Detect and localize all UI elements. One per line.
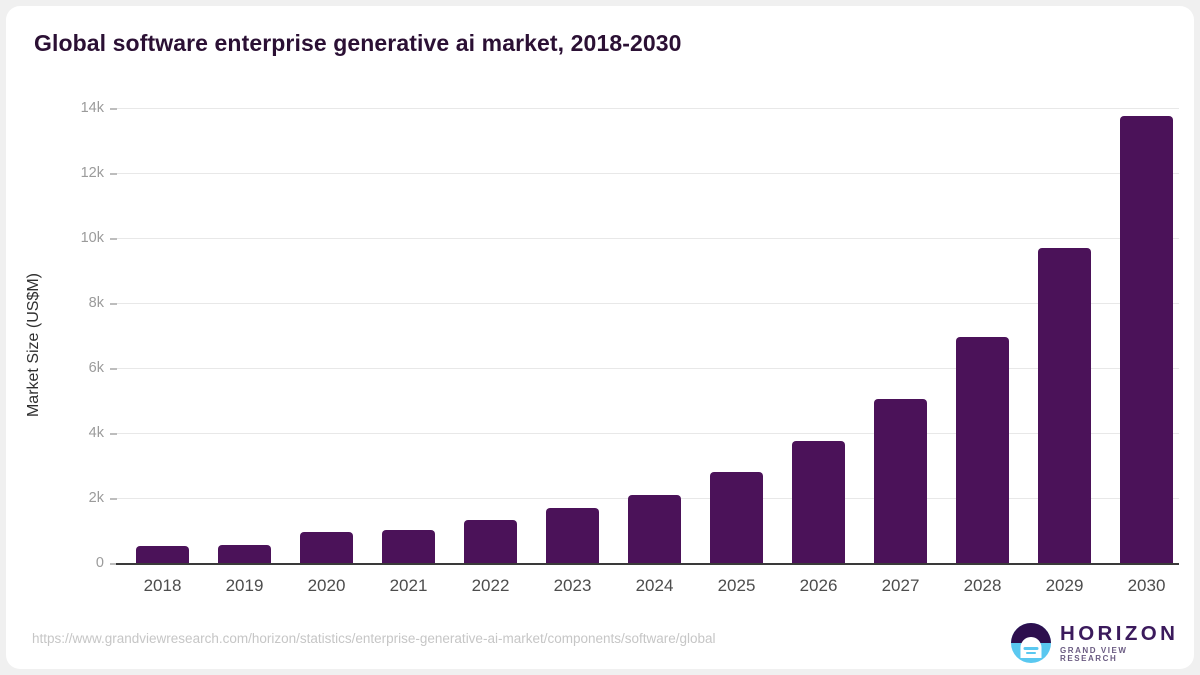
y-axis-title: Market Size (US$M) [25,175,43,515]
plot-area: Market Size (US$M) 02k4k6k8k10k12k14k 20… [6,6,1194,669]
y-tick-label: 0 [96,555,104,571]
bar-2018[interactable] [136,546,189,563]
bar-2024[interactable] [628,495,681,563]
x-tick-label-2028: 2028 [938,576,1028,596]
x-tick-label-2029: 2029 [1020,576,1110,596]
x-tick-label-2025: 2025 [692,576,782,596]
x-tick-label-2026: 2026 [774,576,864,596]
logo-text-block: HORIZON GRAND VIEW RESEARCH [1060,623,1181,663]
gridline [116,368,1179,369]
y-tick-mark [110,498,117,500]
bar-2029[interactable] [1038,248,1091,563]
y-tick-mark [110,108,117,110]
y-tick-mark [110,433,117,435]
y-tick-label: 14k [81,100,104,116]
y-tick-label: 6k [89,360,104,376]
chart-card: Global software enterprise generative ai… [6,6,1194,669]
y-tick-label: 4k [89,425,104,441]
gridline [116,238,1179,239]
x-axis-line [116,563,1179,565]
x-tick-label-2018: 2018 [118,576,208,596]
bar-2026[interactable] [792,441,845,563]
y-tick-mark [110,238,117,240]
bar-2025[interactable] [710,472,763,563]
bar-2020[interactable] [300,532,353,563]
bar-2021[interactable] [382,530,435,563]
bar-2022[interactable] [464,520,517,563]
logo-name: HORIZON [1060,623,1181,645]
bar-2028[interactable] [956,337,1009,563]
y-tick-label: 10k [81,230,104,246]
y-tick-label: 12k [81,165,104,181]
y-tick-label: 2k [89,490,104,506]
logo-subtitle: GRAND VIEW RESEARCH [1060,647,1181,663]
bar-2027[interactable] [874,399,927,563]
x-tick-label-2019: 2019 [200,576,290,596]
source-url[interactable]: https://www.grandviewresearch.com/horizo… [32,631,716,646]
bar-2019[interactable] [218,545,271,563]
gridline [116,173,1179,174]
horizon-sunset-circle-icon [1011,623,1051,663]
x-tick-label-2024: 2024 [610,576,700,596]
bar-2030[interactable] [1120,116,1173,563]
x-tick-label-2030: 2030 [1102,576,1192,596]
y-tick-mark [110,173,117,175]
gridline [116,108,1179,109]
x-tick-label-2022: 2022 [446,576,536,596]
x-tick-label-2021: 2021 [364,576,454,596]
y-tick-label: 8k [89,295,104,311]
logo-line-lower [1026,652,1036,655]
x-tick-label-2020: 2020 [282,576,372,596]
logo-line-upper [1024,647,1039,650]
bar-2023[interactable] [546,508,599,563]
horizon-logo[interactable]: HORIZON GRAND VIEW RESEARCH [1011,621,1181,665]
gridline [116,303,1179,304]
gridline [116,433,1179,434]
x-tick-label-2027: 2027 [856,576,946,596]
y-tick-mark [110,368,117,370]
y-tick-mark [110,303,117,305]
x-tick-label-2023: 2023 [528,576,618,596]
